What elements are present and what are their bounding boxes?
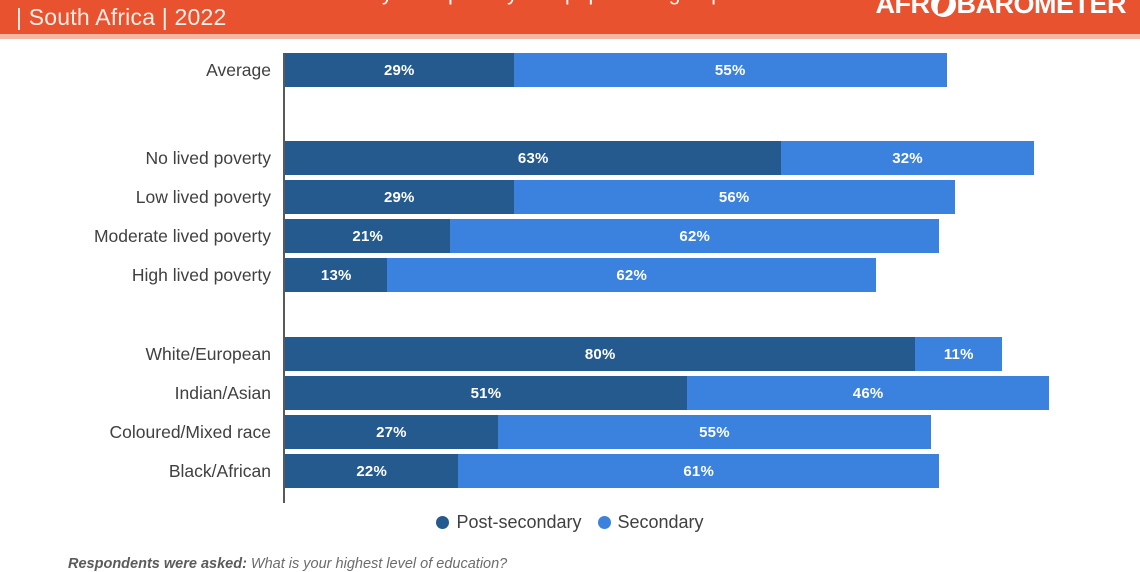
bar-segment-post-secondary[interactable]: 21% bbox=[285, 219, 450, 253]
legend-label-secondary: Secondary bbox=[618, 512, 704, 533]
page-title: Education by lived poverty and populatio… bbox=[270, 0, 723, 6]
bar-segment-post-secondary[interactable]: 22% bbox=[285, 454, 458, 488]
bar-segment-post-secondary[interactable]: 27% bbox=[285, 415, 498, 449]
bar-row: No lived poverty63%32% bbox=[0, 141, 1140, 175]
bar-value-label: 62% bbox=[679, 228, 710, 245]
bar-segment-post-secondary[interactable]: 80% bbox=[285, 337, 915, 371]
category-label: Indian/Asian bbox=[175, 376, 271, 410]
chart-legend: Post-secondary Secondary bbox=[0, 512, 1140, 533]
bar-track: 13%62% bbox=[285, 258, 876, 292]
bar-track: 80%11% bbox=[285, 337, 1002, 371]
bar-value-label: 62% bbox=[616, 267, 647, 284]
bar-segment-secondary[interactable]: 62% bbox=[387, 258, 876, 292]
leaf-o-icon bbox=[931, 0, 956, 17]
bar-value-label: 27% bbox=[376, 424, 407, 441]
category-label: High lived poverty bbox=[132, 258, 271, 292]
bar-value-label: 22% bbox=[356, 463, 387, 480]
bar-track: 27%55% bbox=[285, 415, 931, 449]
brand-text-part1: AFR bbox=[876, 0, 930, 20]
legend-label-post-secondary: Post-secondary bbox=[456, 512, 581, 533]
bar-segment-secondary[interactable]: 56% bbox=[514, 180, 955, 214]
bar-value-label: 55% bbox=[715, 62, 746, 79]
header-subtitle: | South Africa | 2022 bbox=[16, 4, 227, 31]
bar-track: 51%46% bbox=[285, 376, 1049, 410]
bar-track: 22%61% bbox=[285, 454, 939, 488]
bar-row: Low lived poverty29%56% bbox=[0, 180, 1140, 214]
bar-segment-post-secondary[interactable]: 29% bbox=[285, 53, 514, 87]
legend-dot-icon-secondary bbox=[598, 516, 611, 529]
afrobarometer-logo: AFR BAROMETER bbox=[876, 0, 1127, 20]
bar-row: Black/African22%61% bbox=[0, 454, 1140, 488]
category-label: Black/African bbox=[169, 454, 271, 488]
bar-segment-post-secondary[interactable]: 29% bbox=[285, 180, 514, 214]
bar-row: Moderate lived poverty21%62% bbox=[0, 219, 1140, 253]
bar-row: White/European80%11% bbox=[0, 337, 1140, 371]
category-label: White/European bbox=[146, 337, 272, 371]
bar-segment-post-secondary[interactable]: 51% bbox=[285, 376, 687, 410]
bar-value-label: 13% bbox=[321, 267, 352, 284]
bar-segment-post-secondary[interactable]: 63% bbox=[285, 141, 781, 175]
chart-plot-area: Average29%55%No lived poverty63%32%Low l… bbox=[0, 45, 1140, 505]
category-label: Low lived poverty bbox=[136, 180, 271, 214]
bar-segment-secondary[interactable]: 55% bbox=[514, 53, 947, 87]
category-label: Average bbox=[206, 53, 271, 87]
bar-segment-secondary[interactable]: 55% bbox=[498, 415, 931, 449]
bar-track: 29%56% bbox=[285, 180, 955, 214]
brand-text-part2: BAROMETER bbox=[957, 0, 1127, 20]
category-label: No lived poverty bbox=[146, 141, 271, 175]
legend-item-post-secondary[interactable]: Post-secondary bbox=[436, 512, 581, 533]
bar-value-label: 29% bbox=[384, 189, 415, 206]
bar-segment-secondary[interactable]: 32% bbox=[781, 141, 1033, 175]
bar-value-label: 80% bbox=[585, 346, 616, 363]
header-underline bbox=[0, 34, 1140, 39]
bar-segment-secondary[interactable]: 62% bbox=[450, 219, 939, 253]
header-band: Education by lived poverty and populatio… bbox=[0, 0, 1140, 34]
category-label: Moderate lived poverty bbox=[94, 219, 271, 253]
bar-value-label: 46% bbox=[853, 385, 884, 402]
bar-row: Indian/Asian51%46% bbox=[0, 376, 1140, 410]
bar-value-label: 21% bbox=[352, 228, 383, 245]
bar-segment-secondary[interactable]: 61% bbox=[458, 454, 939, 488]
bar-segment-secondary[interactable]: 11% bbox=[915, 337, 1002, 371]
bar-row: Coloured/Mixed race27%55% bbox=[0, 415, 1140, 449]
bar-track: 63%32% bbox=[285, 141, 1034, 175]
bar-row: Average29%55% bbox=[0, 53, 1140, 87]
bar-value-label: 55% bbox=[699, 424, 730, 441]
legend-item-secondary[interactable]: Secondary bbox=[598, 512, 704, 533]
category-label: Coloured/Mixed race bbox=[110, 415, 271, 449]
bar-value-label: 63% bbox=[518, 150, 549, 167]
legend-dot-icon-post-secondary bbox=[436, 516, 449, 529]
bar-value-label: 11% bbox=[944, 346, 974, 363]
bar-row: High lived poverty13%62% bbox=[0, 258, 1140, 292]
bar-segment-secondary[interactable]: 46% bbox=[687, 376, 1049, 410]
bar-value-label: 32% bbox=[892, 150, 923, 167]
bar-value-label: 29% bbox=[384, 62, 415, 79]
bar-track: 29%55% bbox=[285, 53, 947, 87]
bar-value-label: 51% bbox=[471, 385, 502, 402]
bar-track: 21%62% bbox=[285, 219, 939, 253]
bar-value-label: 61% bbox=[683, 463, 714, 480]
bar-value-label: 56% bbox=[719, 189, 750, 206]
bar-rows-container: Average29%55%No lived poverty63%32%Low l… bbox=[0, 45, 1140, 505]
bar-segment-post-secondary[interactable]: 13% bbox=[285, 258, 387, 292]
